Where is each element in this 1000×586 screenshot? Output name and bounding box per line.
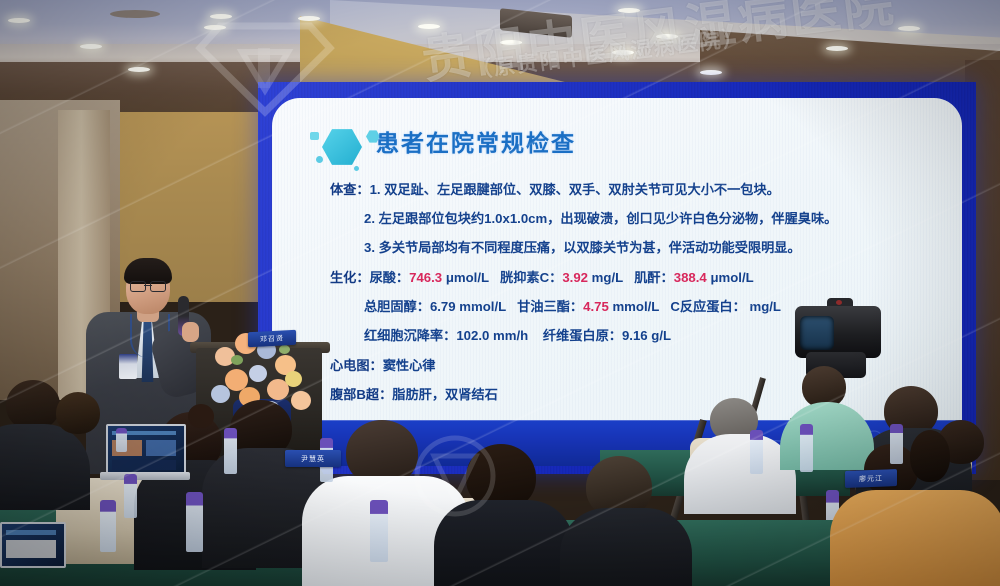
exam-text-1: 1. 双足趾、左足跟腱部位、双膝、双手、双肘关节可见大小不一包块。 <box>370 182 780 197</box>
lab-unit: mg/L <box>592 270 624 285</box>
led-projection-screen: 患者在院常规检查 体查：1. 双足趾、左足跟腱部位、双膝、双手、双肘关节可见大小… <box>258 82 976 474</box>
screen-content-row <box>112 460 176 470</box>
nameplate: 尹慧英 <box>285 450 341 467</box>
presentation-slide: 患者在院常规检查 体查：1. 双足趾、左足跟腱部位、双膝、双手、双肘关节可见大小… <box>272 98 962 466</box>
ceiling-downlight <box>80 44 102 49</box>
flower <box>291 391 311 410</box>
exam-line-2: 2. 左足跟部位包块约1.0x1.0cm，出现破溃，创口见少许白色分泌物，伴腥臭… <box>330 211 942 227</box>
presenter-hand <box>182 322 199 342</box>
ceiling-downlight <box>8 18 30 23</box>
lab-unit: mg/L <box>749 299 781 314</box>
labs-prefix: 生化： <box>330 270 370 285</box>
audience-head <box>6 380 60 430</box>
water-bottle <box>116 428 127 452</box>
hospital-logo-watermark <box>390 430 520 525</box>
water-bottle <box>890 424 903 464</box>
lab-name: 纤维蛋白原： <box>543 328 622 343</box>
exam-text-2: 2. 左足跟部位包块约1.0x1.0cm，出现破溃，创口见少许白色分泌物，伴腥臭… <box>364 211 837 226</box>
slide-title: 患者在院常规检查 <box>376 124 576 158</box>
audience-shoulders <box>830 490 1000 586</box>
presenter-badge <box>119 354 137 379</box>
ceiling-downlight <box>128 67 150 72</box>
decoration-dot <box>316 156 323 163</box>
water-bottle <box>750 430 763 474</box>
water-bottle <box>100 500 116 552</box>
exam-line-1: 体查：1. 双足趾、左足跟腱部位、双膝、双手、双肘关节可见大小不一包块。 <box>330 182 942 198</box>
lab-name: 红细胞沉降率： <box>364 328 456 343</box>
ceiling-downlight <box>826 46 848 51</box>
ecg-value: 窦性心律 <box>383 358 436 373</box>
ceiling-downlight <box>500 40 522 45</box>
ceiling-downlight <box>700 70 722 75</box>
glasses-icon <box>130 281 166 291</box>
lab-value: 388.4 <box>674 270 707 285</box>
lab-unit: g/L <box>651 328 671 343</box>
flower <box>249 365 267 382</box>
ecg-label: 心电图： <box>330 358 383 373</box>
hair-bun <box>188 404 214 428</box>
ceiling-downlight <box>418 24 440 29</box>
audience-head <box>910 430 950 482</box>
screen-content-row <box>6 540 56 558</box>
flower-leaf <box>279 345 290 354</box>
ultrasound-line: 腹部B超：脂肪肝，双肾结石 <box>330 387 942 403</box>
lab-name: 肌酐： <box>634 270 674 285</box>
screen-content-row <box>146 440 176 456</box>
nameplate: 邓召贤 <box>248 330 296 348</box>
water-bottle <box>124 474 137 518</box>
lab-unit: mm/h <box>493 328 528 343</box>
hexagon-decoration <box>308 122 386 170</box>
flower <box>211 385 230 403</box>
lab-name: C反应蛋白： <box>670 299 745 314</box>
lab-name: 胱抑素C： <box>500 270 562 285</box>
ceiling-downlight <box>618 8 640 13</box>
lab-unit: mmol/L <box>612 299 659 314</box>
lab-value: 4.75 <box>583 299 609 314</box>
decoration-dot <box>354 166 359 171</box>
hexagon-dot-icon <box>310 132 319 140</box>
audience-shoulders <box>0 424 90 510</box>
lab-value: 9.16 <box>622 328 648 343</box>
camera-lcd-screen <box>800 316 834 350</box>
labs-row-1: 生化：尿酸：746.3 μmol/L 胱抑素C：3.92 mg/L 肌酐：388… <box>330 270 942 286</box>
water-bottle <box>224 428 237 474</box>
water-bottle <box>800 424 813 472</box>
flower <box>285 371 302 387</box>
lab-name: 甘油三酯： <box>517 299 583 314</box>
ceiling-downlight <box>656 34 678 39</box>
lab-unit: μmol/L <box>446 270 489 285</box>
lab-unit: mmol/L <box>459 299 506 314</box>
flower-leaf <box>231 355 243 365</box>
water-bottle <box>186 492 203 552</box>
lab-unit: μmol/L <box>710 270 753 285</box>
hospital-logo-watermark <box>180 8 350 118</box>
lab-name: 总胆固醇： <box>364 299 430 314</box>
lab-name: 尿酸： <box>370 270 410 285</box>
exam-text-3: 3. 多关节局部均有不同程度压痛，以双膝关节为甚，伴活动功能受限明显。 <box>364 240 801 255</box>
lab-value: 746.3 <box>409 270 442 285</box>
lab-value: 6.79 <box>430 299 456 314</box>
ceiling-downlight <box>612 50 634 55</box>
screen-content-row <box>6 530 56 535</box>
ceiling-vent <box>110 10 160 18</box>
exam-label: 体查： <box>330 182 370 197</box>
ceiling-downlight <box>898 26 920 31</box>
ultrasound-value: 脂肪肝，双肾结石 <box>392 387 498 402</box>
audience-head <box>56 392 100 434</box>
lab-value: 3.92 <box>562 270 588 285</box>
audience-shoulders <box>560 508 692 586</box>
hexagon-icon <box>322 128 362 166</box>
water-bottle <box>370 500 388 562</box>
lab-value: 102.0 <box>456 328 489 343</box>
exam-line-3: 3. 多关节局部均有不同程度压痛，以双膝关节为甚，伴活动功能受限明显。 <box>330 240 942 256</box>
nameplate: 廖元江 <box>845 469 897 488</box>
laptop-base <box>100 472 190 480</box>
conference-presentation-photo: 患者在院常规检查 体查：1. 双足趾、左足跟腱部位、双膝、双手、双肘关节可见大小… <box>0 0 1000 586</box>
ultrasound-label: 腹部B超： <box>330 387 392 402</box>
laptop-screen <box>0 522 66 568</box>
camera-indicator <box>836 300 842 305</box>
